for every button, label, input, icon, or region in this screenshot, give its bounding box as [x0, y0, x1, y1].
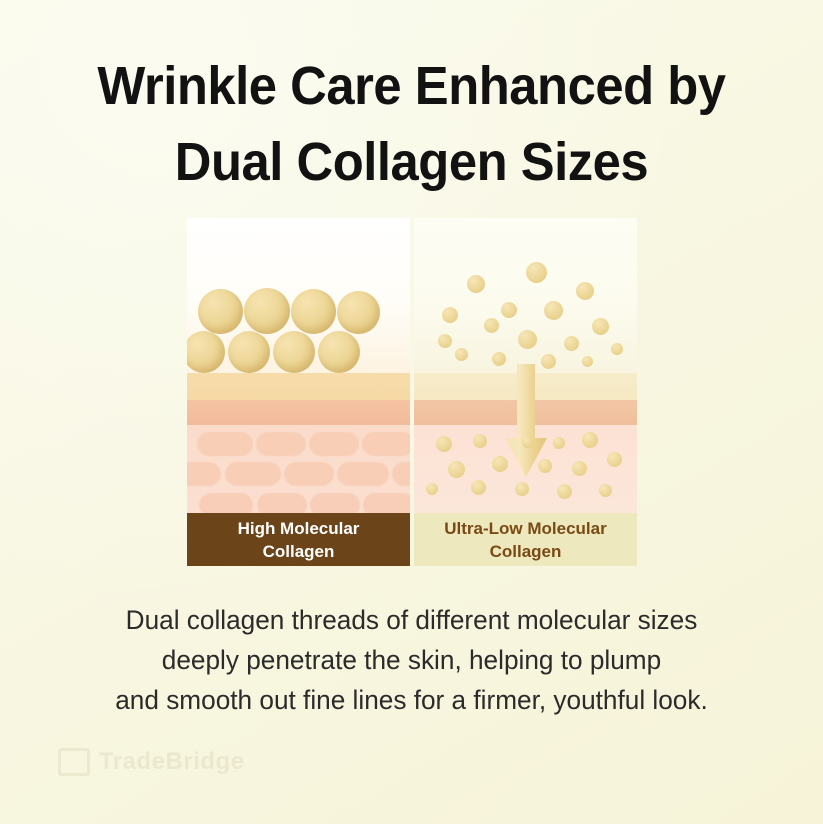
micro-particle	[492, 352, 506, 366]
micro-particle	[553, 437, 565, 449]
dermis-cell	[187, 462, 221, 486]
micro-particle	[473, 434, 487, 448]
left-epidermis-layer	[187, 373, 410, 400]
micro-particle	[492, 456, 508, 472]
description-line-2: deeply penetrate the skin, helping to pl…	[12, 640, 810, 680]
micro-particle	[515, 482, 529, 496]
panel-high-molecular: High Molecular Collagen	[187, 218, 410, 566]
micro-particle	[572, 461, 587, 476]
dermis-cell	[362, 432, 410, 456]
micro-particle	[438, 334, 452, 348]
micro-particle	[436, 436, 452, 452]
right-air-layer	[414, 218, 637, 373]
micro-particle	[426, 483, 438, 495]
description-paragraph: Dual collagen threads of different molec…	[0, 600, 823, 720]
page-title: Wrinkle Care Enhanced by Dual Collagen S…	[0, 48, 823, 200]
micro-particle	[484, 318, 499, 333]
micro-particle	[599, 484, 612, 497]
description-line-1: Dual collagen threads of different molec…	[12, 600, 810, 640]
micro-particle	[611, 343, 623, 355]
dermis-cell	[225, 462, 281, 486]
promo-graphic: Wrinkle Care Enhanced by Dual Collagen S…	[0, 0, 823, 824]
description-line-3: and smooth out fine lines for a firmer, …	[12, 680, 810, 720]
left-junction-layer	[187, 400, 410, 425]
micro-particle	[607, 452, 622, 467]
micro-particle	[538, 459, 552, 473]
dermis-cell	[309, 432, 359, 456]
left-caption-line-2: Collagen	[263, 540, 335, 563]
panel-ultra-low-molecular: Ultra-Low Molecular Collagen	[414, 218, 637, 566]
micro-particle	[544, 301, 563, 320]
collagen-sphere	[291, 289, 336, 334]
micro-particle	[501, 302, 517, 318]
micro-particle	[541, 354, 556, 369]
micro-particle	[564, 336, 579, 351]
collagen-sphere	[337, 291, 380, 334]
micro-particle	[467, 275, 485, 293]
right-caption-text: Ultra-Low Molecular Collagen	[414, 513, 637, 566]
micro-particle	[448, 461, 465, 478]
micro-particle	[582, 432, 598, 448]
watermark: TradeBridge	[58, 748, 245, 776]
micro-particle	[557, 484, 572, 499]
micro-particle	[471, 480, 486, 495]
dermis-cell	[284, 462, 334, 486]
comparison-figure: High Molecular Collagen	[187, 218, 637, 566]
left-caption-line-1: High Molecular	[238, 517, 360, 540]
right-caption-bar: Ultra-Low Molecular Collagen	[414, 513, 637, 566]
logo-mark-icon	[58, 748, 90, 776]
micro-particle	[455, 348, 468, 361]
collagen-sphere	[318, 331, 360, 373]
left-caption-text: High Molecular Collagen	[187, 513, 410, 566]
dermis-cell	[197, 432, 253, 456]
micro-particle	[526, 262, 547, 283]
dermis-cell	[256, 432, 306, 456]
right-caption-line-1: Ultra-Low Molecular	[444, 517, 606, 540]
collagen-sphere	[273, 331, 315, 373]
micro-particle	[522, 437, 533, 448]
micro-particle	[576, 282, 594, 300]
dermis-cell	[337, 462, 389, 486]
title-line-2: Dual Collagen Sizes	[25, 124, 799, 200]
collagen-sphere	[198, 289, 243, 334]
collagen-sphere	[228, 331, 270, 373]
left-caption-bar: High Molecular Collagen	[187, 513, 410, 566]
left-dermis-layer	[187, 425, 410, 513]
right-caption-line-2: Collagen	[490, 540, 562, 563]
watermark-text: TradeBridge	[99, 748, 245, 776]
micro-particle	[582, 356, 593, 367]
micro-particle	[442, 307, 458, 323]
title-line-1: Wrinkle Care Enhanced by	[25, 48, 799, 124]
micro-particle	[592, 318, 609, 335]
micro-particle	[518, 330, 537, 349]
dermis-cell	[392, 462, 410, 486]
collagen-sphere	[244, 288, 290, 334]
